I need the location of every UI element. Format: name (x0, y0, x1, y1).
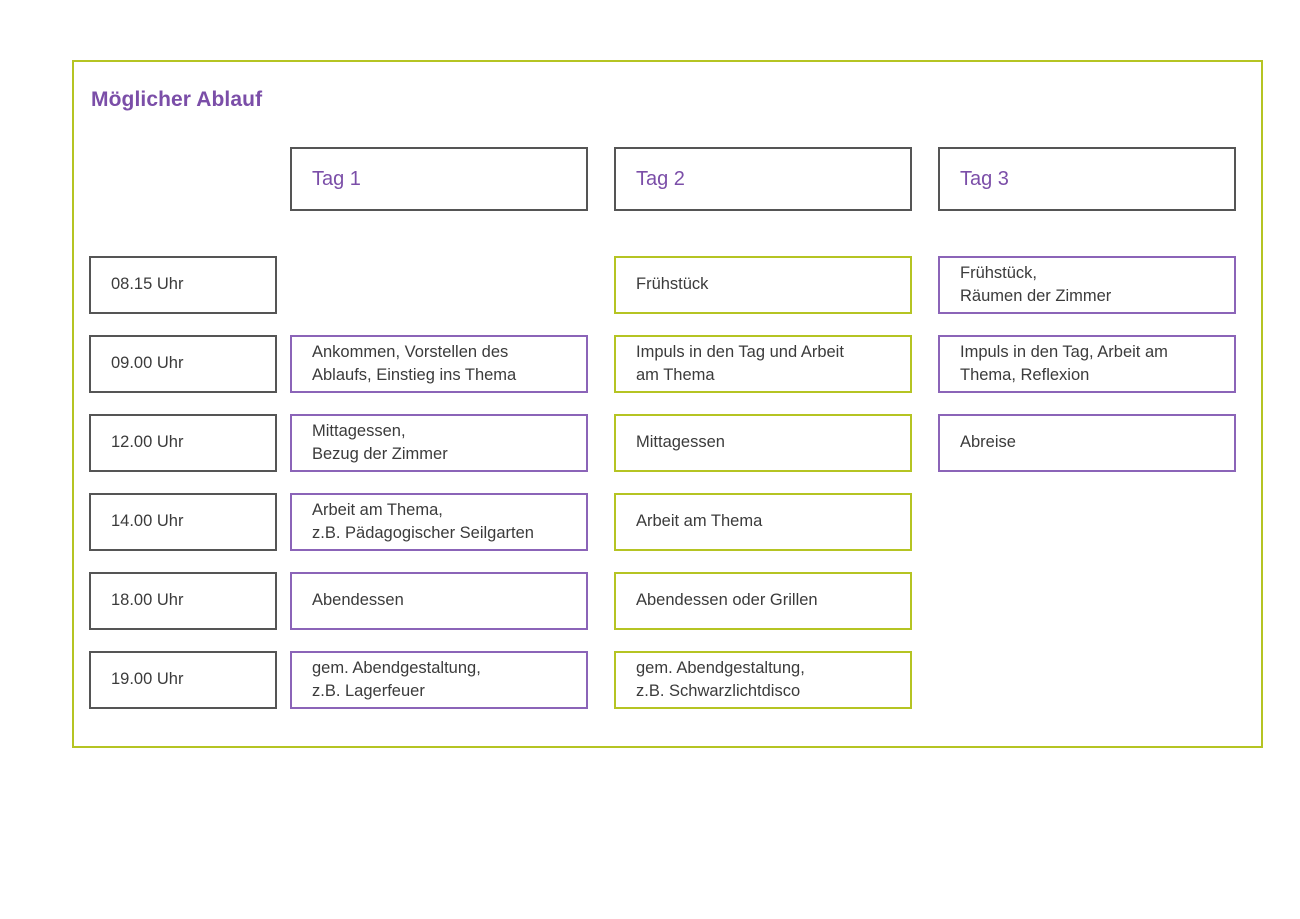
activity-day2-4[interactable]: Abendessen oder Grillen (614, 572, 912, 630)
activity-day1-1-label: Ankommen, Vorstellen des Ablaufs, Einsti… (292, 341, 536, 388)
time-slot-1-label: 09.00 Uhr (91, 352, 203, 375)
time-slot-1: 09.00 Uhr (89, 335, 277, 393)
activity-day1-2-label: Mittagessen, Bezug der Zimmer (292, 420, 468, 467)
time-slot-5-label: 19.00 Uhr (91, 668, 203, 691)
slide-canvas: Möglicher Ablauf Tag 1Tag 2Tag 308.15 Uh… (0, 0, 1300, 919)
activity-day2-1-label: Impuls in den Tag und Arbeit am Thema (616, 341, 864, 388)
activity-day3-3-empty (938, 493, 1236, 551)
activity-day2-0[interactable]: Frühstück (614, 256, 912, 314)
activity-day1-4-label: Abendessen (292, 589, 424, 612)
activity-day2-2[interactable]: Mittagessen (614, 414, 912, 472)
activity-day3-5-empty (938, 651, 1236, 709)
activity-day1-3-label: Arbeit am Thema, z.B. Pädagogischer Seil… (292, 499, 554, 546)
activity-day2-1[interactable]: Impuls in den Tag und Arbeit am Thema (614, 335, 912, 393)
time-slot-0: 08.15 Uhr (89, 256, 277, 314)
activity-day3-2[interactable]: Abreise (938, 414, 1236, 472)
activity-day2-5[interactable]: gem. Abendgestaltung, z.B. Schwarzlichtd… (614, 651, 912, 709)
activity-day2-3-label: Arbeit am Thema (616, 510, 782, 533)
activity-day2-4-label: Abendessen oder Grillen (616, 589, 838, 612)
time-slot-3: 14.00 Uhr (89, 493, 277, 551)
activity-day2-0-label: Frühstück (616, 273, 728, 296)
time-slot-2-label: 12.00 Uhr (91, 431, 203, 454)
day-header-day3[interactable]: Tag 3 (938, 147, 1236, 211)
activity-day2-2-label: Mittagessen (616, 431, 745, 454)
schedule-grid: Tag 1Tag 2Tag 308.15 UhrFrühstückFrühstü… (74, 62, 1261, 746)
activity-day3-0[interactable]: Frühstück, Räumen der Zimmer (938, 256, 1236, 314)
time-slot-5: 19.00 Uhr (89, 651, 277, 709)
activity-day3-1[interactable]: Impuls in den Tag, Arbeit am Thema, Refl… (938, 335, 1236, 393)
time-slot-3-label: 14.00 Uhr (91, 510, 203, 533)
activity-day1-5-label: gem. Abendgestaltung, z.B. Lagerfeuer (292, 657, 501, 704)
time-slot-4: 18.00 Uhr (89, 572, 277, 630)
activity-day3-1-label: Impuls in den Tag, Arbeit am Thema, Refl… (940, 341, 1188, 388)
time-slot-2: 12.00 Uhr (89, 414, 277, 472)
activity-day1-0-empty (290, 256, 588, 314)
content-frame: Möglicher Ablauf Tag 1Tag 2Tag 308.15 Uh… (72, 60, 1263, 748)
day-header-day2-label: Tag 2 (616, 165, 705, 193)
activity-day1-1[interactable]: Ankommen, Vorstellen des Ablaufs, Einsti… (290, 335, 588, 393)
time-slot-4-label: 18.00 Uhr (91, 589, 203, 612)
time-slot-0-label: 08.15 Uhr (91, 273, 203, 296)
activity-day3-0-label: Frühstück, Räumen der Zimmer (940, 262, 1131, 309)
activity-day3-2-label: Abreise (940, 431, 1036, 454)
activity-day3-4-empty (938, 572, 1236, 630)
activity-day1-2[interactable]: Mittagessen, Bezug der Zimmer (290, 414, 588, 472)
day-header-day1[interactable]: Tag 1 (290, 147, 588, 211)
header-spacer (89, 147, 277, 211)
activity-day1-5[interactable]: gem. Abendgestaltung, z.B. Lagerfeuer (290, 651, 588, 709)
day-header-day3-label: Tag 3 (940, 165, 1029, 193)
activity-day2-3[interactable]: Arbeit am Thema (614, 493, 912, 551)
activity-day2-5-label: gem. Abendgestaltung, z.B. Schwarzlichtd… (616, 657, 825, 704)
day-header-day1-label: Tag 1 (292, 165, 381, 193)
day-header-day2[interactable]: Tag 2 (614, 147, 912, 211)
activity-day1-4[interactable]: Abendessen (290, 572, 588, 630)
activity-day1-3[interactable]: Arbeit am Thema, z.B. Pädagogischer Seil… (290, 493, 588, 551)
